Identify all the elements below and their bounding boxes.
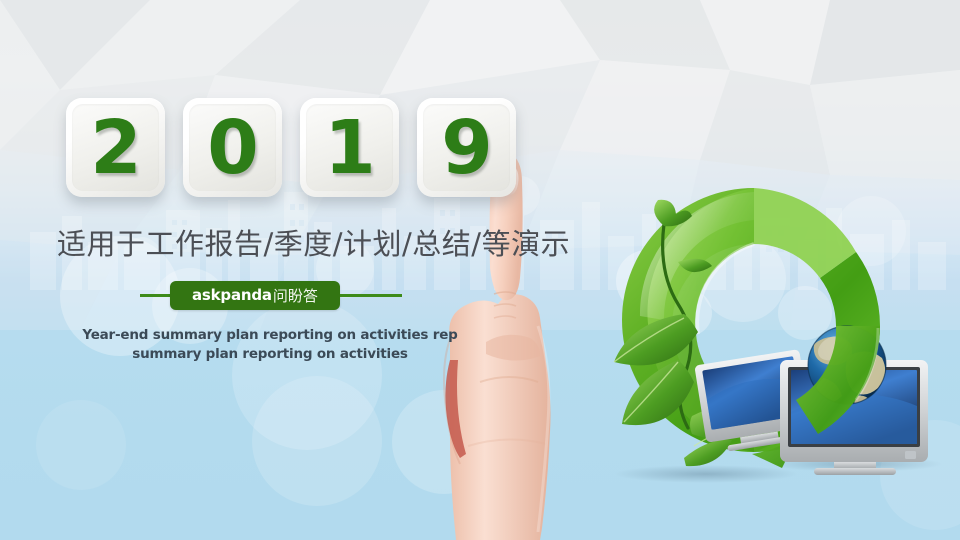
year-digit: 1 xyxy=(324,111,375,185)
year-tiles: 2 0 1 9 xyxy=(66,98,516,197)
year-tile-2: 0 xyxy=(183,98,282,197)
subtitle-english: Year-end summary plan reporting on activ… xyxy=(60,326,480,364)
banner-rule-left xyxy=(140,294,170,297)
year-digit: 2 xyxy=(90,111,141,185)
year-digit: 9 xyxy=(441,111,492,185)
banner-rule-right xyxy=(340,294,402,297)
year-digit: 0 xyxy=(207,111,258,185)
year-tile-4: 9 xyxy=(417,98,516,197)
subtitle-line-2: summary plan reporting on activities xyxy=(60,345,480,364)
year-tile-3: 1 xyxy=(300,98,399,197)
brand-name-cn: 问盼答 xyxy=(273,285,318,306)
subtitle-line-1: Year-end summary plan reporting on activ… xyxy=(60,326,480,345)
brand-banner: askpanda 问盼答 xyxy=(170,281,340,310)
brand-banner-row: askpanda 问盼答 xyxy=(140,278,510,312)
headline-chinese: 适用于工作报告/季度/计划/总结/等演示 xyxy=(57,228,570,261)
year-tile-1: 2 xyxy=(66,98,165,197)
presentation-slide: 2 0 1 9 适用于工作报告/季度/计划/总结/等演示 askpanda 问盼… xyxy=(0,0,960,540)
brand-name-en: askpanda xyxy=(192,286,272,304)
